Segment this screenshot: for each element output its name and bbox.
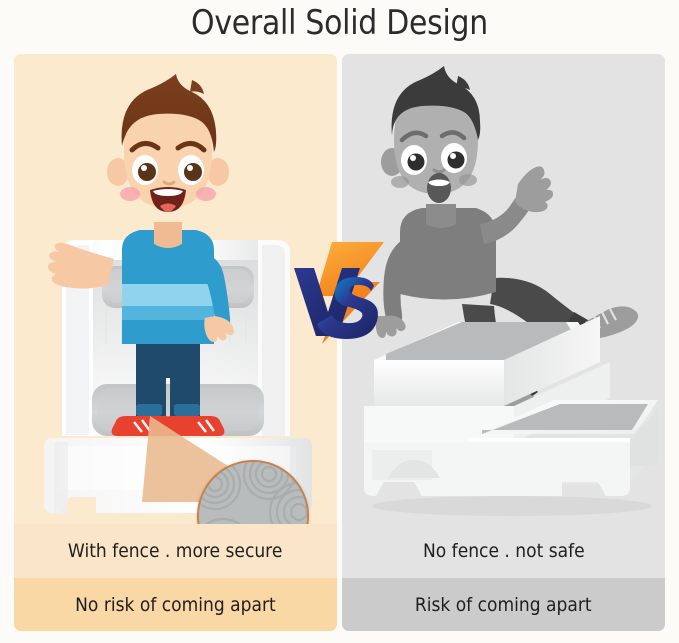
right-caption-top: No fence . not safe [342, 524, 665, 578]
ripple-texture-icon [199, 462, 307, 524]
antislip-magnifier: Anti-slip [197, 460, 309, 524]
vs-badge [288, 236, 392, 348]
right-caption-bottom: Risk of coming apart [342, 578, 665, 631]
page-title: Overall Solid Design [41, 2, 639, 44]
left-caption-top-text: With fence . more secure [68, 540, 282, 562]
right-caption-bottom-text: Risk of coming apart [415, 594, 592, 616]
left-caption-bottom: No risk of coming apart [14, 578, 337, 631]
left-caption-top: With fence . more secure [14, 524, 337, 578]
left-caption-bottom-text: No risk of coming apart [75, 594, 276, 616]
right-caption-top-text: No fence . not safe [423, 540, 585, 562]
